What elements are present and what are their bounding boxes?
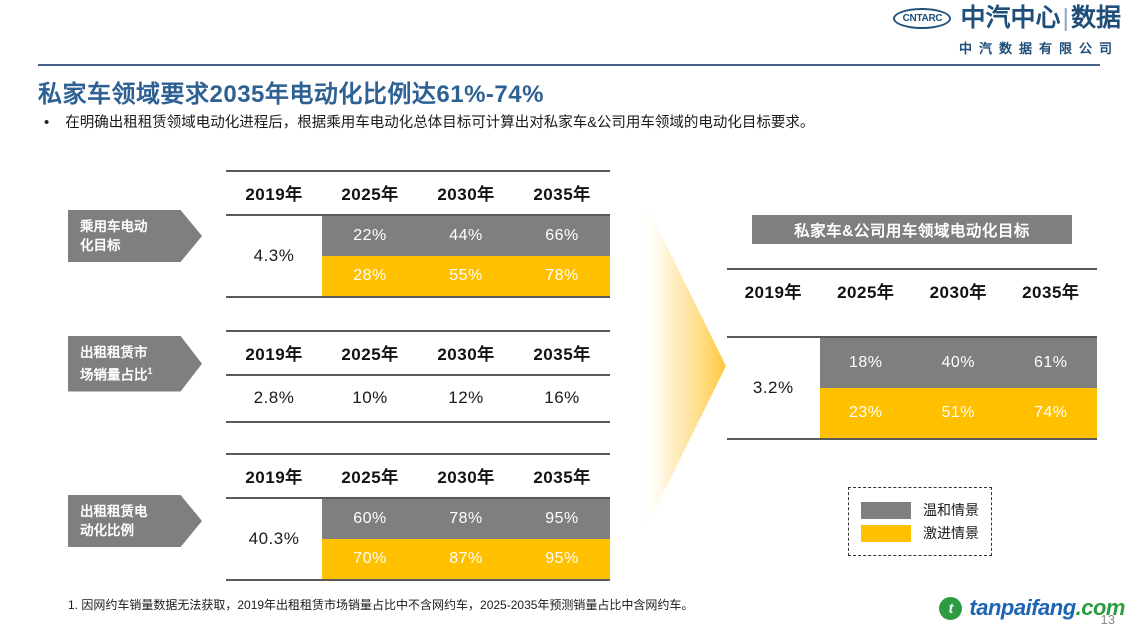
watermark-suffix: .com bbox=[1076, 595, 1125, 620]
table4-col-2030: 2030年 bbox=[912, 270, 1005, 312]
logo-name-left: 中汽中心 bbox=[960, 4, 1060, 32]
slide-canvas: CNTARC 中汽中心|数据 中汽数据有限公司 私家车领域要求2035年电动化比… bbox=[0, 0, 1137, 629]
table1-header-row: 2019年 2025年 2030年 2035年 bbox=[226, 172, 610, 214]
legend-label-aggressive: 激进情景 bbox=[923, 523, 979, 543]
table1-body-row: 4.3% 22% 44% 66% 28% 55% 78% bbox=[226, 216, 610, 296]
table3-base-value: 40.3% bbox=[226, 499, 322, 579]
table-taxi-ev-ratio: 2019年 2025年 2030年 2035年 40.3% 60% 78% 95… bbox=[226, 453, 610, 581]
logo-divider: | bbox=[1060, 4, 1071, 32]
table4-body-row: 3.2% 18% 40% 61% 23% 51% 74% bbox=[727, 338, 1097, 438]
table3-mild-row: 60% 78% 95% bbox=[322, 499, 610, 539]
table-private-company-ev-target: 2019年 2025年 2030年 2035年 3.2% 18% 40% 61%… bbox=[727, 268, 1097, 440]
table4-base-value: 3.2% bbox=[727, 338, 820, 438]
tag1-line1: 乘用车电动 bbox=[80, 217, 202, 236]
table4-col-2035: 2035年 bbox=[1005, 270, 1098, 312]
table4-scenario-stack: 18% 40% 61% 23% 51% 74% bbox=[820, 338, 1098, 438]
table3-header-row: 2019年 2025年 2030年 2035年 bbox=[226, 455, 610, 497]
table2-header-row: 2019年 2025年 2030年 2035年 bbox=[226, 332, 610, 374]
table4-mild-2030: 40% bbox=[912, 338, 1005, 388]
bullet-text: 在明确出租租赁领域电动化进程后，根据乘用车电动化总体目标可计算出对私家车&公司用… bbox=[65, 113, 814, 133]
watermark-name: tanpaifang bbox=[969, 595, 1075, 620]
tag1-line2: 化目标 bbox=[80, 236, 202, 255]
table1-col-2019: 2019年 bbox=[226, 172, 322, 214]
table2-rule-bottom bbox=[226, 421, 610, 423]
table3-mild-2030: 78% bbox=[418, 499, 514, 539]
table1-mild-2025: 22% bbox=[322, 216, 418, 256]
table1-aggressive-2030: 55% bbox=[418, 256, 514, 296]
table3-aggressive-2035: 95% bbox=[514, 539, 610, 579]
table1-col-2035: 2035年 bbox=[514, 172, 610, 214]
table4-aggressive-2030: 51% bbox=[912, 388, 1005, 438]
header-divider bbox=[38, 64, 1100, 66]
page-title: 私家车领域要求2035年电动化比例达61%-74% bbox=[38, 74, 544, 109]
legend: 温和情景 激进情景 bbox=[848, 487, 992, 556]
company-logo: CNTARC 中汽中心|数据 中汽数据有限公司 bbox=[893, 6, 1121, 57]
table2-val-2025: 10% bbox=[322, 376, 418, 421]
table4-mild-2035: 61% bbox=[1005, 338, 1098, 388]
logo-subtitle: 中汽数据有限公司 bbox=[893, 38, 1121, 57]
legend-label-mild: 温和情景 bbox=[923, 500, 979, 520]
table3-rule-bottom bbox=[226, 579, 610, 581]
table2-col-2019: 2019年 bbox=[226, 332, 322, 374]
table4-gap bbox=[727, 312, 1097, 336]
flow-arrow-icon bbox=[640, 196, 726, 536]
table1-rule-bottom bbox=[226, 296, 610, 298]
table1-scenario-stack: 22% 44% 66% 28% 55% 78% bbox=[322, 216, 610, 296]
tag3-line1: 出租租赁电 bbox=[80, 502, 202, 521]
row-label-taxi-ev-ratio: 出租租赁电 动化比例 bbox=[68, 495, 202, 547]
table3-col-2025: 2025年 bbox=[322, 455, 418, 497]
table3-aggressive-2030: 87% bbox=[418, 539, 514, 579]
legend-swatch-aggressive-icon bbox=[861, 525, 911, 542]
table-taxi-market-share: 2019年 2025年 2030年 2035年 2.8% 10% 12% 16% bbox=[226, 330, 610, 423]
watermark-badge-icon: t bbox=[939, 597, 962, 620]
table1-aggressive-row: 28% 55% 78% bbox=[322, 256, 610, 296]
site-watermark: t tanpaifang.com bbox=[939, 595, 1125, 621]
legend-item-aggressive: 激进情景 bbox=[861, 523, 979, 543]
table2-col-2030: 2030年 bbox=[418, 332, 514, 374]
table3-mild-2025: 60% bbox=[322, 499, 418, 539]
row-label-taxi-share: 出租租赁市 场销量占比1 bbox=[68, 336, 202, 392]
footnote-text: 1. 因网约车销量数据无法获取，2019年出租租赁市场销量占比中不含网约车，20… bbox=[68, 596, 693, 613]
table4-aggressive-2035: 74% bbox=[1005, 388, 1098, 438]
table2-val-2019: 2.8% bbox=[226, 376, 322, 421]
table3-body-row: 40.3% 60% 78% 95% 70% 87% 95% bbox=[226, 499, 610, 579]
table3-mild-2035: 95% bbox=[514, 499, 610, 539]
legend-swatch-mild-icon bbox=[861, 502, 911, 519]
tag3-line2: 动化比例 bbox=[80, 521, 202, 540]
cntarc-ellipse-icon: CNTARC bbox=[893, 8, 951, 29]
table1-mild-2035: 66% bbox=[514, 216, 610, 256]
table2-val-2030: 12% bbox=[418, 376, 514, 421]
table1-mild-row: 22% 44% 66% bbox=[322, 216, 610, 256]
watermark-text: tanpaifang.com bbox=[969, 595, 1125, 621]
table3-col-2030: 2030年 bbox=[418, 455, 514, 497]
table4-mild-row: 18% 40% 61% bbox=[820, 338, 1098, 388]
logo-primary-row: CNTARC 中汽中心|数据 bbox=[893, 6, 1121, 31]
table1-col-2030: 2030年 bbox=[418, 172, 514, 214]
table4-col-2025: 2025年 bbox=[820, 270, 913, 312]
table4-mild-2025: 18% bbox=[820, 338, 913, 388]
table1-aggressive-2035: 78% bbox=[514, 256, 610, 296]
table3-scenario-stack: 60% 78% 95% 70% 87% 95% bbox=[322, 499, 610, 579]
row-label-passenger-ev-target: 乘用车电动 化目标 bbox=[68, 210, 202, 262]
table3-aggressive-2025: 70% bbox=[322, 539, 418, 579]
table4-rule-bottom bbox=[727, 438, 1097, 440]
table4-aggressive-2025: 23% bbox=[820, 388, 913, 438]
table-passenger-ev-target: 2019年 2025年 2030年 2035年 4.3% 22% 44% 66%… bbox=[226, 170, 610, 298]
table4-col-2019: 2019年 bbox=[727, 270, 820, 312]
logo-name-right: 数据 bbox=[1071, 4, 1121, 32]
table4-aggressive-row: 23% 51% 74% bbox=[820, 388, 1098, 438]
table1-col-2025: 2025年 bbox=[322, 172, 418, 214]
table3-col-2035: 2035年 bbox=[514, 455, 610, 497]
table1-base-value: 4.3% bbox=[226, 216, 322, 296]
tag2-line2: 场销量占比1 bbox=[80, 362, 202, 385]
table1-aggressive-2025: 28% bbox=[322, 256, 418, 296]
bullet-marker-icon: • bbox=[44, 113, 49, 133]
table2-val-2035: 16% bbox=[514, 376, 610, 421]
tag2-line1: 出租租赁市 bbox=[80, 343, 202, 362]
table2-col-2025: 2025年 bbox=[322, 332, 418, 374]
tag2-footnote-marker: 1 bbox=[148, 366, 153, 376]
legend-item-mild: 温和情景 bbox=[861, 500, 979, 520]
table1-mild-2030: 44% bbox=[418, 216, 514, 256]
table2-body-row: 2.8% 10% 12% 16% bbox=[226, 376, 610, 421]
table4-header-row: 2019年 2025年 2030年 2035年 bbox=[727, 270, 1097, 312]
logo-chinese-name: 中汽中心|数据 bbox=[960, 6, 1121, 31]
table3-col-2019: 2019年 bbox=[226, 455, 322, 497]
right-panel-heading: 私家车&公司用车领域电动化目标 bbox=[752, 215, 1072, 244]
table3-aggressive-row: 70% 87% 95% bbox=[322, 539, 610, 579]
bullet-paragraph: • 在明确出租租赁领域电动化进程后，根据乘用车电动化总体目标可计算出对私家车&公… bbox=[44, 113, 814, 133]
table2-col-2035: 2035年 bbox=[514, 332, 610, 374]
